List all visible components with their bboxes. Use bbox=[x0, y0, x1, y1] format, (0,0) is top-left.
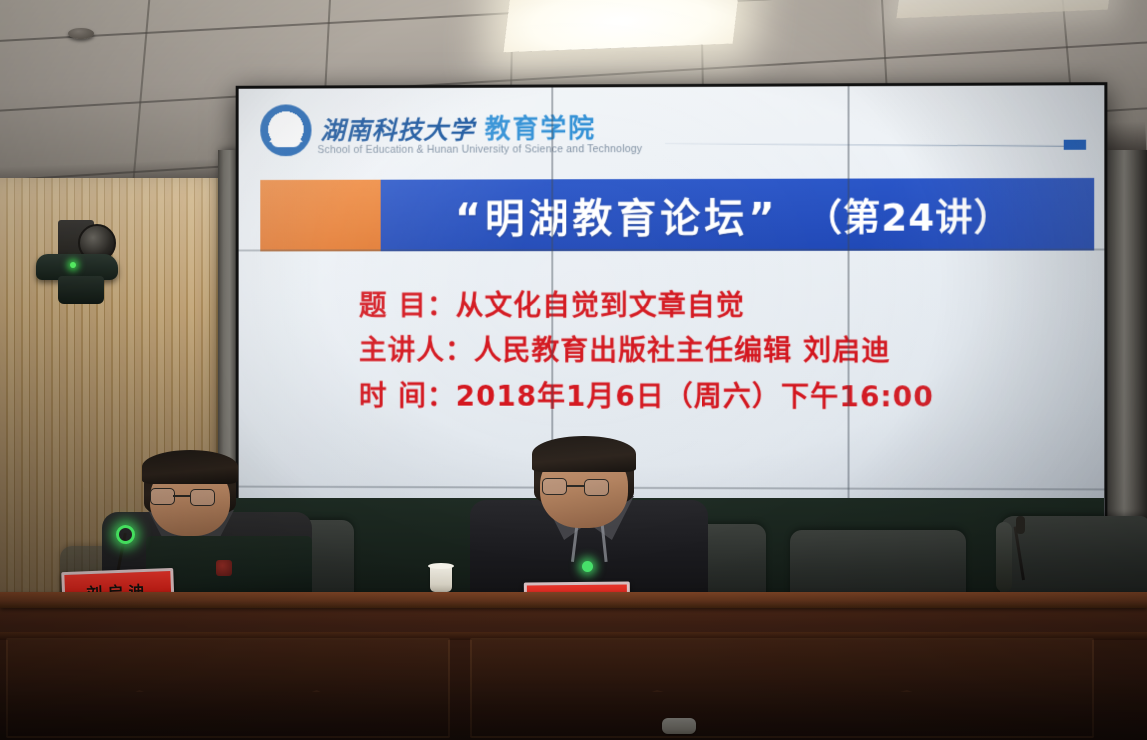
glasses-lens bbox=[542, 478, 567, 495]
forum-title: “明湖教育论坛” bbox=[455, 186, 779, 245]
glasses-lens bbox=[190, 489, 215, 506]
chair-armrest bbox=[996, 522, 1012, 592]
title-orange-block bbox=[260, 180, 380, 252]
display-seam bbox=[848, 86, 850, 534]
glasses-bridge bbox=[173, 495, 190, 497]
podium bbox=[0, 592, 1147, 740]
podium-panel bbox=[6, 638, 450, 738]
camera-status-led bbox=[70, 262, 76, 268]
badge-indicator-led bbox=[582, 561, 593, 572]
person-hair bbox=[142, 450, 238, 484]
forum-session-number: （第24讲） bbox=[805, 187, 1012, 242]
laptop-badge-icon bbox=[216, 560, 232, 576]
institution-name-en: School of Education & Hunan University o… bbox=[317, 143, 642, 156]
slide-line-topic: 题 目：从文化自觉到文章自觉 bbox=[359, 283, 1064, 329]
paper-cup bbox=[662, 718, 696, 734]
ptz-camera bbox=[36, 220, 118, 304]
camera-base bbox=[58, 276, 104, 304]
college-name-cn: 教育学院 bbox=[485, 116, 596, 142]
university-mountain-emblem-icon bbox=[260, 104, 311, 156]
paper-cup bbox=[430, 566, 452, 592]
header-accent-block bbox=[1064, 140, 1086, 150]
glasses-bridge bbox=[566, 485, 585, 487]
podium-panel bbox=[470, 638, 1094, 738]
podium-top-lip bbox=[0, 592, 1147, 608]
microphone-head bbox=[1016, 516, 1025, 534]
institution-name-cn: 湖南科技大学 bbox=[320, 117, 474, 142]
smoke-detector bbox=[68, 28, 94, 39]
slide-header: 湖南科技大学 教育学院 School of Education & Hunan … bbox=[260, 99, 1090, 164]
glasses-icon bbox=[148, 488, 234, 504]
person-hair bbox=[532, 436, 636, 472]
microphone-indicator-led bbox=[116, 525, 135, 544]
cup-rim bbox=[428, 563, 454, 569]
slide-body: 题 目：从文化自觉到文章自觉 主讲人：人民教育出版社主任编辑 刘启迪 时 间：2… bbox=[359, 283, 1064, 420]
ceiling-light-panel bbox=[896, 0, 1113, 18]
photo-scene: 湖南科技大学 教育学院 School of Education & Hunan … bbox=[0, 0, 1147, 740]
slide-title-band: “明湖教育论坛” （第24讲） bbox=[260, 178, 1094, 251]
glasses-lens bbox=[584, 479, 609, 496]
slide-line-speaker: 主讲人：人民教育出版社主任编辑 刘启迪 bbox=[359, 328, 1064, 374]
display-seam bbox=[239, 249, 1105, 252]
slide-line-time: 时 间：2018年1月6日（周六）下午16:00 bbox=[359, 373, 1064, 420]
header-divider bbox=[665, 143, 1068, 147]
glasses-lens bbox=[150, 488, 175, 505]
title-blue-block: “明湖教育论坛” （第24讲） bbox=[381, 178, 1095, 251]
glasses-icon bbox=[540, 478, 630, 494]
ceiling-light-panel bbox=[503, 0, 740, 52]
